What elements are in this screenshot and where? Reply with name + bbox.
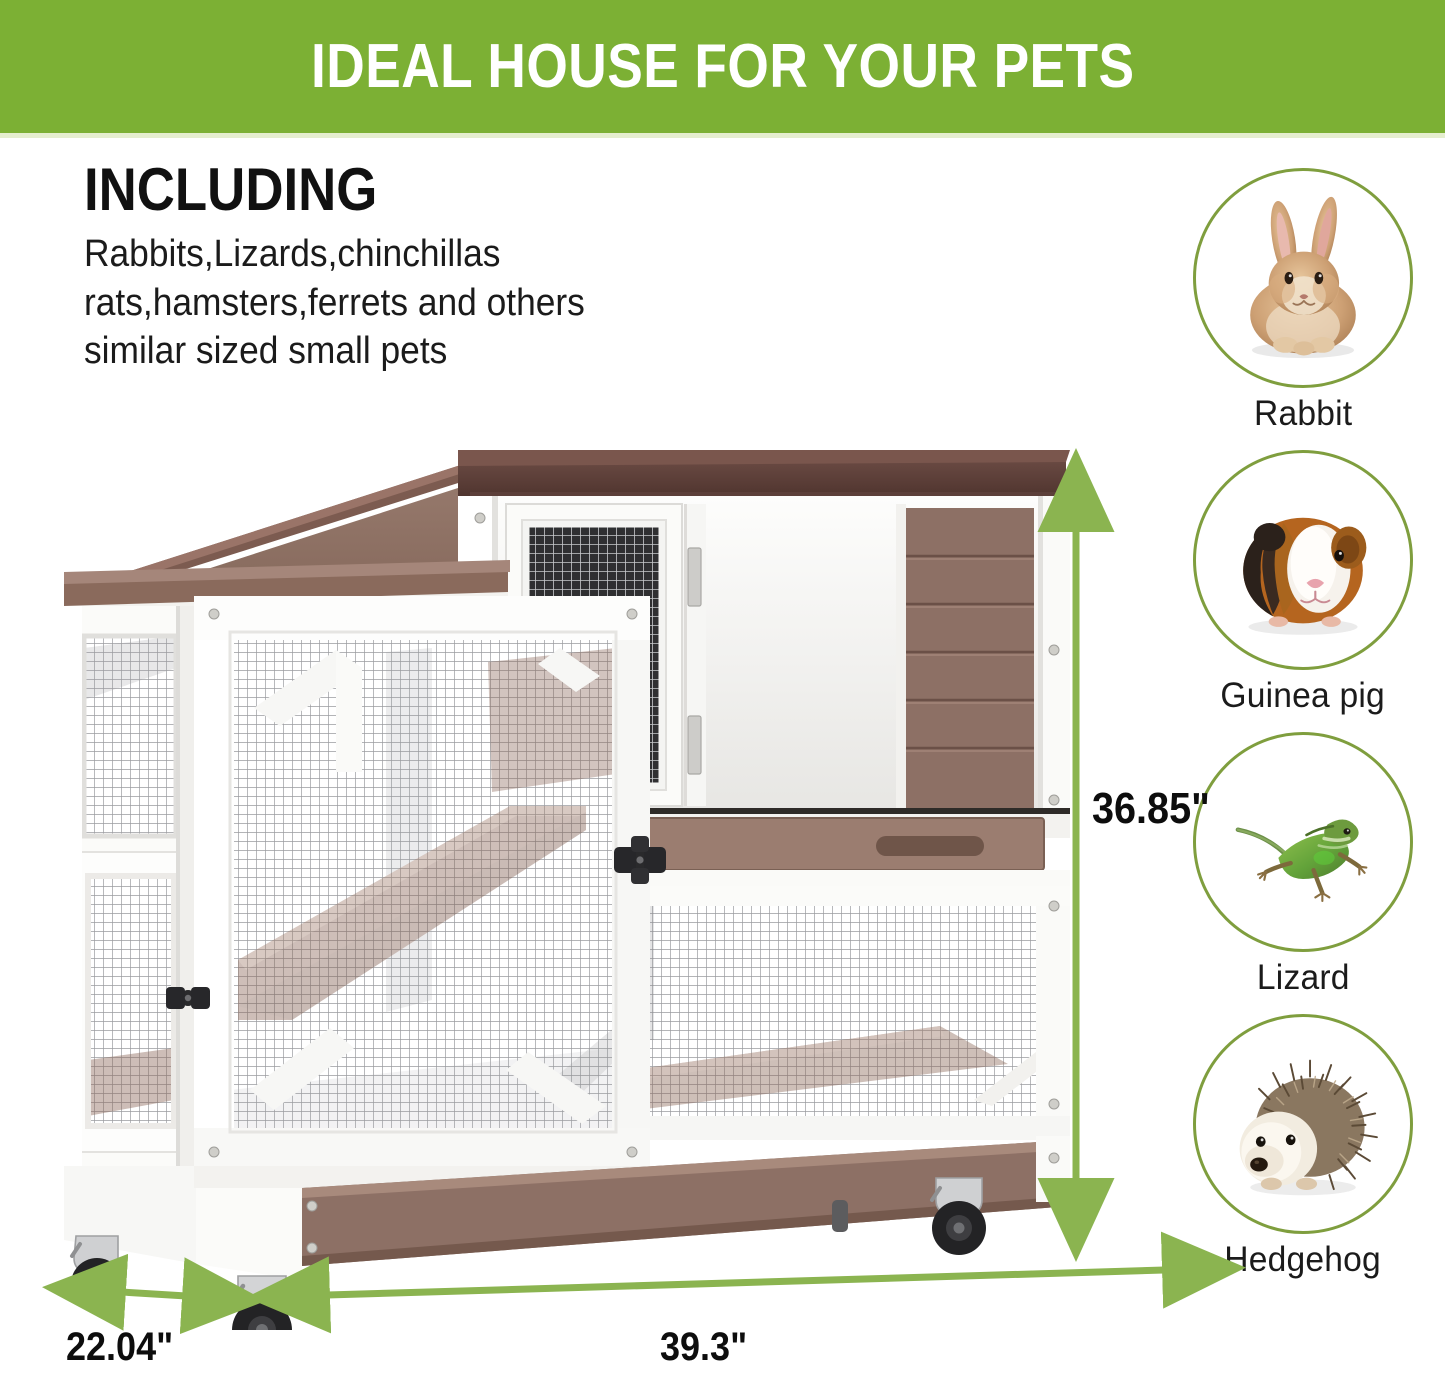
pet-card-rabbit: Rabbit: [1169, 168, 1437, 434]
pet-label-hedgehog: Hedgehog: [1225, 1240, 1382, 1280]
rabbit-hutch-illustration: [40, 400, 1100, 1330]
header-banner: IDEAL HOUSE FOR YOUR PETS: [0, 0, 1445, 133]
caster-front-left: [71, 1236, 123, 1310]
rabbit-photo-icon: [1215, 190, 1391, 366]
pet-list: Rabbit: [1169, 168, 1437, 1296]
pet-label-rabbit: Rabbit: [1254, 394, 1352, 434]
center-foot-peg: [832, 1200, 848, 1232]
pet-ring-rabbit: [1193, 168, 1413, 388]
including-line-3: similar sized small pets: [84, 327, 698, 376]
door-hinge-upper: [688, 548, 701, 606]
tray-handle-right: [876, 836, 984, 856]
including-heading: INCLUDING: [84, 160, 665, 220]
lizard-photo-icon: [1215, 754, 1391, 930]
pet-card-guinea-pig: Guinea pig: [1169, 450, 1437, 716]
run-side-latch: [166, 987, 210, 1009]
door-hinge-lower: [688, 716, 701, 774]
pet-label-guinea-pig: Guinea pig: [1221, 676, 1385, 716]
including-section: INCLUDING Rabbits,Lizards,chinchillas ra…: [84, 160, 744, 376]
width-dimension-label: 39.3": [660, 1325, 747, 1370]
pet-ring-guinea-pig: [1193, 450, 1413, 670]
guinea-pig-photo-icon: [1215, 472, 1391, 648]
hedgehog-photo-icon: [1215, 1036, 1391, 1212]
including-line-2: rats,hamsters,ferrets and others: [84, 279, 698, 328]
pet-label-lizard: Lizard: [1257, 958, 1350, 998]
left-run-enclosure: [64, 560, 666, 1172]
pet-ring-hedgehog: [1193, 1014, 1413, 1234]
including-line-1: Rabbits,Lizards,chinchillas: [84, 230, 698, 279]
run-left-side: [64, 606, 196, 1166]
product-image: [40, 400, 1100, 1330]
caster-front-center: [232, 1276, 292, 1330]
pet-card-lizard: Lizard: [1169, 732, 1437, 998]
lap-siding-panel: [896, 504, 1034, 812]
banner-title: IDEAL HOUSE FOR YOUR PETS: [311, 36, 1135, 98]
height-dimension-label: 36.85": [1092, 784, 1210, 834]
banner-underline: [0, 133, 1445, 138]
caster-rear-right: [932, 1178, 986, 1255]
depth-dimension-label: 22.04": [66, 1325, 173, 1370]
pet-ring-lizard: [1193, 732, 1413, 952]
pet-card-hedgehog: Hedgehog: [1169, 1014, 1437, 1280]
run-front-face: [194, 596, 650, 1172]
